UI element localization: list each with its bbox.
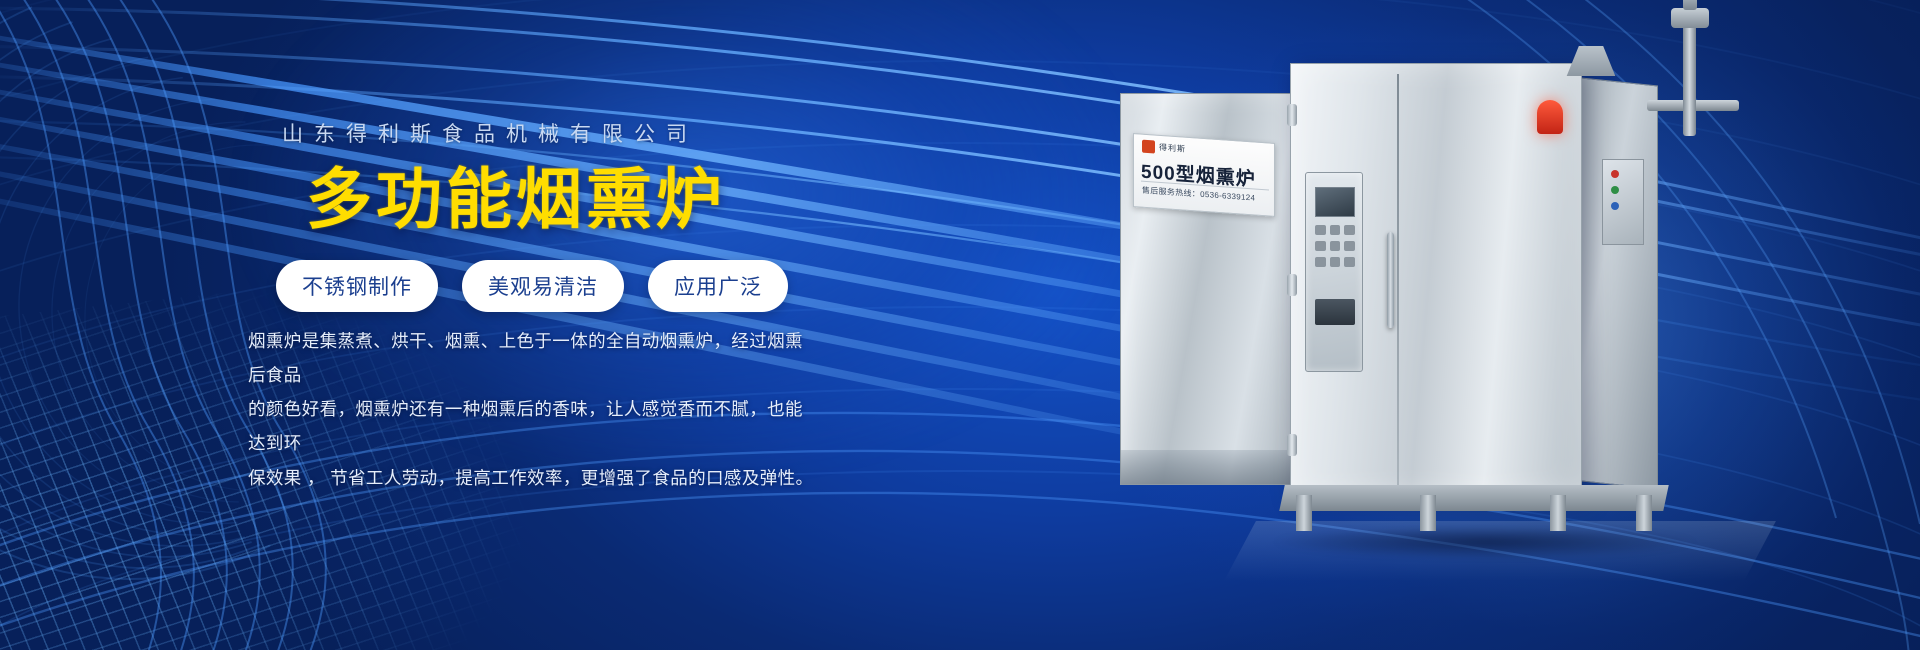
vertical-pipe-icon [1683,24,1696,136]
door-handle[interactable] [1387,232,1394,328]
page-title: 多功能烟熏炉 [306,165,726,235]
alarm-beacon-icon [1537,100,1563,134]
feature-pill-1-label: 不锈钢制作 [302,276,412,299]
oven-leg-1 [1296,495,1312,531]
oven-leg-4 [1636,495,1652,531]
oven-base [1279,485,1669,511]
door-seam [1397,74,1399,486]
door-hinge-top [1287,104,1297,126]
description-paragraph: 烟熏炉是集蒸煮、烘干、烟熏、上色于一体的全自动烟熏炉，经过烟熏后食品 的颜色好看… [248,324,820,495]
indicator-red-icon [1611,170,1619,178]
door-hinge-mid [1287,274,1297,296]
description-line-3: 保效果 ， 节省工人劳动，提高工作效率，更增强了食品的口感及弹性。 [248,461,820,495]
valve-icon [1671,8,1709,28]
description-line-2: 的颜色好看，烟熏炉还有一种烟熏后的香味，让人感觉香而不腻，也能达到环 [248,392,820,460]
control-main-button[interactable] [1315,299,1355,325]
feature-pill-2-label: 美观易清洁 [488,276,598,299]
oven-left-column: 得利斯 500型烟熏炉 售后服务热线：0536-6339124 [1120,93,1298,485]
feature-pill-1[interactable]: 不锈钢制作 [276,260,438,312]
feature-pill-3-label: 应用广泛 [674,276,762,299]
nameplate-logo: 得利斯 [1142,140,1186,156]
company-name: 山东得利斯食品机械有限公司 [282,118,698,148]
control-button-row-2[interactable] [1315,241,1355,251]
door-hinge-bottom [1287,434,1297,456]
brand-mark-icon [1142,140,1155,154]
indicator-green-icon [1611,186,1619,194]
oven-leg-2 [1420,495,1436,531]
feature-pill-list: 不锈钢制作 美观易清洁 应用广泛 [276,260,788,312]
control-screen-icon [1315,187,1355,217]
smokehouse-oven: 得利斯 500型烟熏炉 售后服务热线：0536-6339124 [1120,55,1680,525]
banner-text-content: 山东得利斯食品机械有限公司 多功能烟熏炉 不锈钢制作 美观易清洁 应用广泛 烟熏… [0,0,860,650]
control-panel[interactable] [1305,172,1363,372]
oven-leg-3 [1550,495,1566,531]
description-line-1: 烟熏炉是集蒸煮、烘干、烟熏、上色于一体的全自动烟熏炉，经过烟熏后食品 [248,324,820,392]
feature-pill-2[interactable]: 美观易清洁 [462,260,624,312]
side-control-box[interactable] [1602,159,1644,245]
feature-pill-3[interactable]: 应用广泛 [648,260,788,312]
oven-main-cabinet [1290,63,1582,495]
product-image: 得利斯 500型烟熏炉 售后服务热线：0536-6339124 [920,0,1920,650]
control-button-row-3[interactable] [1315,257,1355,267]
nameplate-brand: 得利斯 [1159,142,1186,155]
product-nameplate: 得利斯 500型烟熏炉 售后服务热线：0536-6339124 [1133,133,1275,217]
hero-banner: 山东得利斯食品机械有限公司 多功能烟熏炉 不锈钢制作 美观易清洁 应用广泛 烟熏… [0,0,1920,650]
oven-right-panel [1572,76,1658,489]
indicator-blue-icon [1611,202,1619,210]
control-button-row-1[interactable] [1315,225,1355,235]
